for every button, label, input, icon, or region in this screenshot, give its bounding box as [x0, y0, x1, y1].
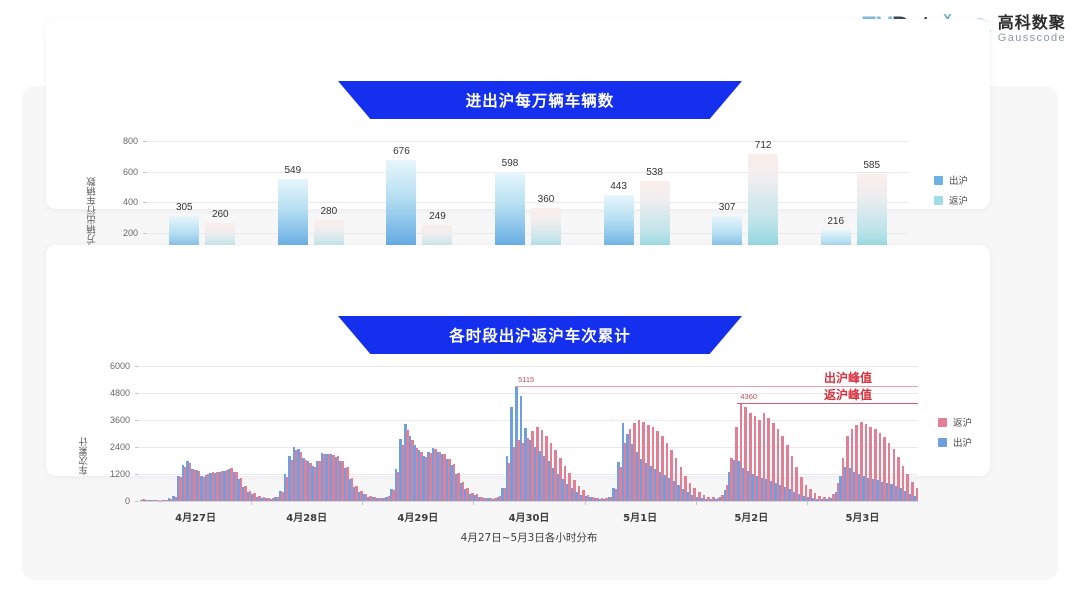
chart-title-banner-1: 进出沪每万辆车辆数	[338, 81, 742, 119]
chart1-y-tick-mark	[143, 141, 147, 142]
chart2-y-tick-mark	[135, 393, 139, 394]
chart2-peak-value-back: 4360	[740, 392, 757, 401]
chart2-gridline	[140, 366, 918, 367]
chart2-legend-item[interactable]: 出沪	[938, 435, 972, 449]
chart1-y-tick-label: 200	[104, 228, 138, 238]
chart1-y-tick-mark	[143, 202, 147, 203]
chart2-y-tick-mark	[135, 474, 139, 475]
gausscode-cn-name: 高科数聚	[998, 16, 1066, 33]
chart1-bar-value: 598	[502, 158, 519, 169]
chart1-gridline	[148, 172, 908, 173]
chart2-x-tick-label: 4月29日	[397, 509, 438, 524]
chart1-y-axis-title: 每万辆出行车辆数	[86, 149, 100, 253]
chart1-legend-swatch	[934, 176, 943, 185]
gausscode-text: 高科数聚 Gausscode	[998, 16, 1066, 44]
dashboard-page: EVData X SHANGHAI CHINA	[0, 0, 1080, 608]
chart1-bar-value: 280	[321, 206, 338, 217]
chart2-y-tick-label: 1200	[96, 469, 130, 479]
chart2-y-tick-mark	[135, 501, 139, 502]
chart1-legend-label: 返沪	[949, 193, 968, 207]
chart2-x-tick-label: 4月28日	[286, 509, 327, 524]
chart2-y-tick-label: 2400	[96, 442, 130, 452]
chart2-y-tick-label: 3600	[96, 415, 130, 425]
chart2-x-tick-mark	[251, 501, 252, 505]
chart1-gridline	[148, 233, 908, 234]
chart-title-1: 进出沪每万辆车辆数	[466, 89, 615, 111]
chart1-bar-value: 538	[646, 167, 663, 178]
chart-title-banner-2: 各时段出沪返沪车次累计	[338, 316, 742, 354]
chart1-legend: 出沪 返沪	[934, 173, 968, 207]
chart1-y-tick-mark	[143, 233, 147, 234]
chart2-x-tick-mark	[473, 501, 474, 505]
chart2-peak-label-back: 返沪峰值	[824, 386, 872, 403]
chart2-y-tick-mark	[135, 447, 139, 448]
chart2-y-tick-label: 4800	[96, 388, 130, 398]
chart1-bar-value: 712	[755, 140, 772, 151]
chart1-bar-value: 549	[285, 165, 302, 176]
chart1-legend-swatch	[934, 196, 943, 205]
chart1-bar-value: 360	[538, 194, 555, 205]
chart1-y-tick-label: 800	[104, 136, 138, 146]
chart1-bar-value: 585	[863, 160, 880, 171]
chart2-legend-swatch	[938, 438, 947, 447]
chart2-gridline	[140, 393, 918, 394]
chart2-legend-label: 返沪	[953, 415, 972, 429]
chart1-legend-label: 出沪	[949, 173, 968, 187]
chart2-x-axis-title: 4月27日~5月3日各小时分布	[461, 530, 598, 545]
chart2-legend-swatch	[938, 418, 947, 427]
chart2-legend-label: 出沪	[953, 435, 972, 449]
chart2-legend: 返沪 出沪	[938, 415, 972, 449]
chart1-y-tick-label: 600	[104, 167, 138, 177]
chart2-x-tick-label: 4月30日	[509, 509, 550, 524]
chart2-y-axis-title: 车次累计	[78, 400, 92, 475]
chart2-bar-back[interactable]	[916, 488, 919, 502]
chart2-gridline	[140, 420, 918, 421]
gausscode-en-name: Gausscode	[998, 33, 1066, 45]
chart2-y-tick-label: 0	[96, 496, 130, 506]
chart1-bar-value: 676	[393, 146, 410, 157]
chart1-bar-value: 249	[429, 211, 446, 222]
chart2-y-tick-mark	[135, 366, 139, 367]
chart2-x-tick-mark	[807, 501, 808, 505]
chart1-bar-value: 443	[610, 181, 627, 192]
chart2-x-tick-mark	[585, 501, 586, 505]
chart2-peak-label-out: 出沪峰值	[824, 369, 872, 386]
chart2-x-tick-label: 5月2日	[734, 509, 768, 524]
chart1-gridline	[148, 141, 908, 142]
chart1-bar-value: 305	[176, 202, 193, 213]
chart2-x-tick-mark	[696, 501, 697, 505]
chart2-y-tick-mark	[135, 420, 139, 421]
chart2-axis-baseline	[140, 501, 918, 502]
chart2-peak-line-back	[737, 403, 918, 404]
chart2-x-tick-label: 4月27日	[175, 509, 216, 524]
chart1-gridline	[148, 202, 908, 203]
chart2-legend-item[interactable]: 返沪	[938, 415, 972, 429]
chart2-peak-value-out: 5115	[518, 375, 534, 384]
chart2-x-tick-mark	[362, 501, 363, 505]
chart1-bar-value: 216	[827, 216, 844, 227]
chart1-bar-value: 260	[212, 209, 229, 220]
chart2-y-tick-label: 6000	[96, 361, 130, 371]
chart1-y-tick-mark	[143, 172, 147, 173]
chart1-legend-item[interactable]: 出沪	[934, 173, 968, 187]
chart2-x-tick-label: 5月3日	[845, 509, 879, 524]
chart-title-2: 各时段出沪返沪车次累计	[449, 324, 631, 346]
chart1-bar-value: 307	[719, 202, 736, 213]
chart1-y-tick-label: 400	[104, 197, 138, 207]
chart2-x-tick-label: 5月1日	[623, 509, 657, 524]
chart1-legend-item[interactable]: 返沪	[934, 193, 968, 207]
